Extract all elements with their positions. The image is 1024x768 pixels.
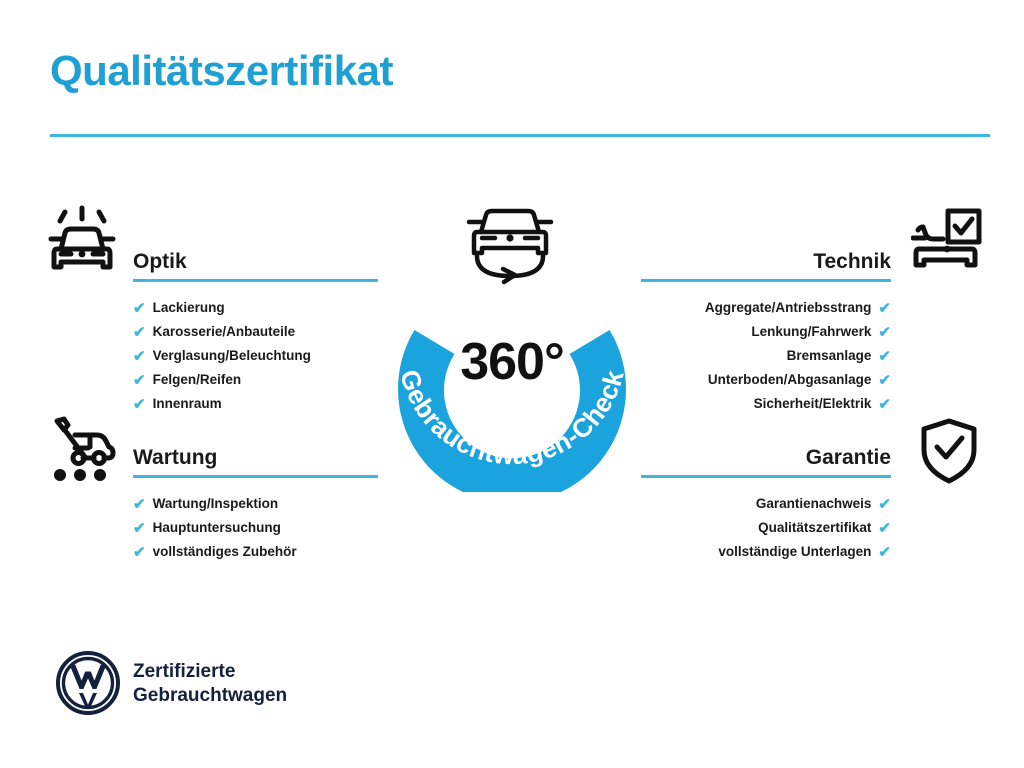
check-icon: ✔ — [133, 545, 146, 560]
list-item-label: Karosserie/Anbauteile — [153, 325, 296, 339]
list-item: Unterboden/Abgasanlage✔ — [641, 368, 891, 392]
footer-brand-text: Zertifizierte Gebrauchtwagen — [133, 660, 287, 708]
list-item-label: Bremsanlage — [787, 349, 872, 363]
check-icon: ✔ — [133, 373, 146, 388]
list-item: Bremsanlage✔ — [641, 344, 891, 368]
list-item-label: vollständiges Zubehör — [153, 545, 297, 559]
list-item: ✔Innenraum — [133, 392, 378, 416]
checklist-technik: Aggregate/Antriebsstrang✔ Lenkung/Fahrwe… — [641, 296, 891, 416]
list-item: ✔Verglasung/Beleuchtung — [133, 344, 378, 368]
list-item-label: Hauptuntersuchung — [153, 521, 281, 535]
section-divider — [641, 475, 891, 478]
section-optik: Optik ✔Lackierung ✔Karosserie/Anbauteile… — [133, 236, 378, 416]
list-item-label: vollständige Unterlagen — [718, 545, 871, 559]
list-item-label: Lenkung/Fahrwerk — [751, 325, 871, 339]
check-icon: ✔ — [133, 521, 146, 536]
check-icon: ✔ — [133, 349, 146, 364]
check-icon: ✔ — [878, 349, 891, 364]
footer-brand-line1: Zertifizierte — [133, 660, 287, 684]
list-item: vollständige Unterlagen✔ — [641, 540, 891, 564]
section-title: Optik — [133, 251, 187, 272]
list-item-label: Qualitätszertifikat — [758, 521, 871, 535]
badge-360-check: Gebrauchtwagen-Check 360° — [374, 258, 650, 492]
badge-center-label: 360° — [374, 336, 650, 388]
list-item-label: Wartung/Inspektion — [153, 497, 279, 511]
section-header: Optik — [133, 236, 378, 282]
list-item: Qualitätszertifikat✔ — [641, 516, 891, 540]
list-item-label: Lackierung — [153, 301, 225, 315]
volkswagen-logo — [55, 650, 121, 721]
list-item: ✔vollständiges Zubehör — [133, 540, 378, 564]
list-item: ✔Hauptuntersuchung — [133, 516, 378, 540]
check-icon: ✔ — [133, 325, 146, 340]
list-item: Lenkung/Fahrwerk✔ — [641, 320, 891, 344]
list-item-label: Felgen/Reifen — [153, 373, 242, 387]
list-item: ✔Felgen/Reifen — [133, 368, 378, 392]
list-item-label: Aggregate/Antriebsstrang — [705, 301, 872, 315]
check-icon: ✔ — [878, 497, 891, 512]
list-item-label: Innenraum — [153, 397, 222, 411]
checklist-wartung: ✔Wartung/Inspektion ✔Hauptuntersuchung ✔… — [133, 492, 378, 564]
check-icon: ✔ — [878, 301, 891, 316]
list-item-label: Garantienachweis — [756, 497, 872, 511]
section-title: Garantie — [806, 447, 891, 468]
list-item: Aggregate/Antriebsstrang✔ — [641, 296, 891, 320]
section-header: Technik — [641, 236, 891, 282]
list-item-label: Unterboden/Abgasanlage — [708, 373, 872, 387]
check-icon: ✔ — [878, 545, 891, 560]
section-title: Technik — [813, 251, 891, 272]
list-item: ✔Lackierung — [133, 296, 378, 320]
check-icon: ✔ — [133, 497, 146, 512]
list-item-label: Sicherheit/Elektrik — [754, 397, 872, 411]
check-icon: ✔ — [878, 373, 891, 388]
list-item-label: Verglasung/Beleuchtung — [153, 349, 311, 363]
section-garantie: Garantie Garantienachweis✔ Qualitätszert… — [641, 432, 891, 564]
check-icon: ✔ — [133, 301, 146, 316]
section-title: Wartung — [133, 447, 217, 468]
check-icon: ✔ — [133, 397, 146, 412]
list-item: ✔Wartung/Inspektion — [133, 492, 378, 516]
check-icon: ✔ — [878, 397, 891, 412]
footer-brand-line2: Gebrauchtwagen — [133, 684, 287, 708]
car-shine-icon — [45, 205, 119, 282]
section-technik: Technik Aggregate/Antriebsstrang✔ Lenkun… — [641, 236, 891, 416]
check-icon: ✔ — [878, 325, 891, 340]
car-lift-wrench-icon — [45, 415, 119, 488]
page-title: Qualitätszertifikat — [50, 50, 393, 92]
check-icon: ✔ — [878, 521, 891, 536]
car-checkbox-icon — [911, 205, 983, 280]
list-item: Garantienachweis✔ — [641, 492, 891, 516]
list-item: Sicherheit/Elektrik✔ — [641, 392, 891, 416]
list-item: ✔Karosserie/Anbauteile — [133, 320, 378, 344]
section-divider — [133, 475, 378, 478]
section-wartung: Wartung ✔Wartung/Inspektion ✔Hauptunters… — [133, 432, 378, 564]
section-header: Wartung — [133, 432, 378, 478]
section-header: Garantie — [641, 432, 891, 478]
section-divider — [641, 279, 891, 282]
section-divider — [133, 279, 378, 282]
checklist-optik: ✔Lackierung ✔Karosserie/Anbauteile ✔Verg… — [133, 296, 378, 416]
title-divider — [50, 134, 990, 137]
checklist-garantie: Garantienachweis✔ Qualitätszertifikat✔ v… — [641, 492, 891, 564]
shield-check-icon — [918, 416, 980, 491]
